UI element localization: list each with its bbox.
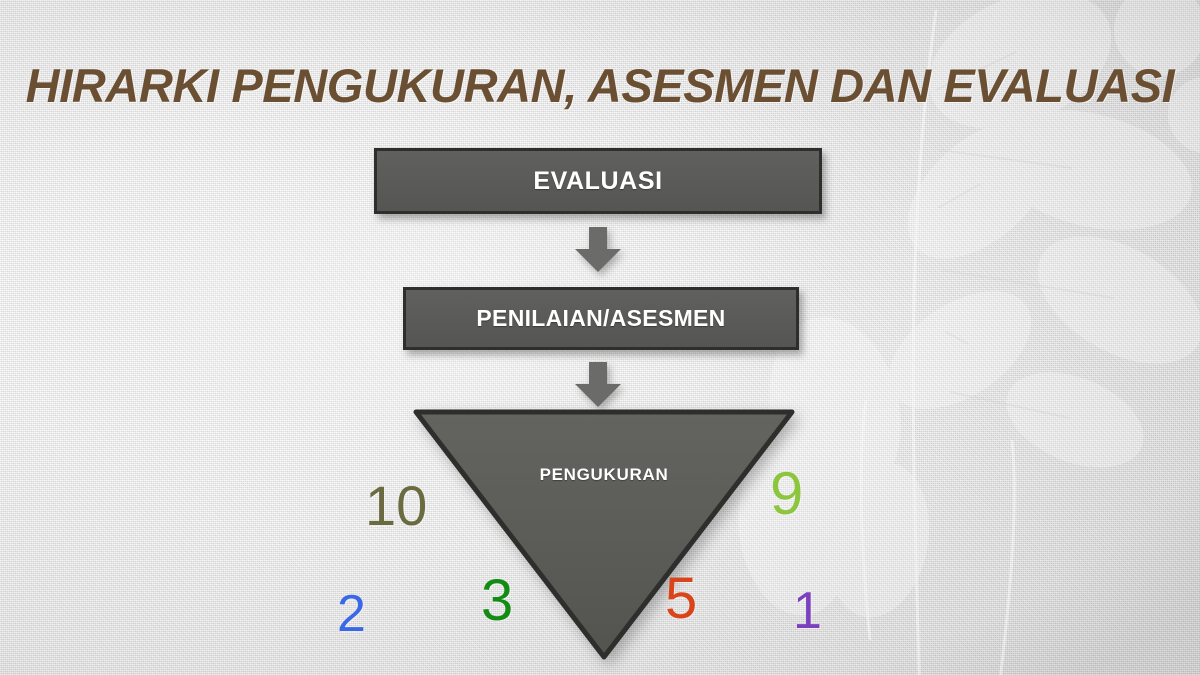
slide-canvas: HIRARKI PENGUKURAN, ASESMEN DAN EVALUASI…: [0, 0, 1200, 675]
hierarchy-triangle-pengukuran[interactable]: [413, 408, 795, 660]
floating-number-2: 2: [337, 588, 366, 640]
floating-number-5: 5: [665, 570, 697, 628]
arrow-down-icon: [574, 362, 622, 408]
arrow-down-icon: [574, 227, 622, 273]
floating-number-9: 9: [770, 464, 803, 524]
hierarchy-box-evaluasi-label: EVALUASI: [533, 167, 662, 196]
hierarchy-box-penilaian-asesmen[interactable]: PENILAIAN/ASESMEN: [403, 287, 799, 350]
floating-number-1: 1: [793, 585, 822, 637]
page-title: HIRARKI PENGUKURAN, ASESMEN DAN EVALUASI: [0, 58, 1200, 113]
hierarchy-triangle-pengukuran-label: PENGUKURAN: [413, 465, 795, 485]
hierarchy-box-evaluasi[interactable]: EVALUASI: [374, 148, 822, 214]
hierarchy-box-penilaian-asesmen-label: PENILAIAN/ASESMEN: [476, 305, 725, 332]
floating-number-3: 3: [481, 572, 513, 630]
floating-number-10: 10: [365, 478, 427, 534]
